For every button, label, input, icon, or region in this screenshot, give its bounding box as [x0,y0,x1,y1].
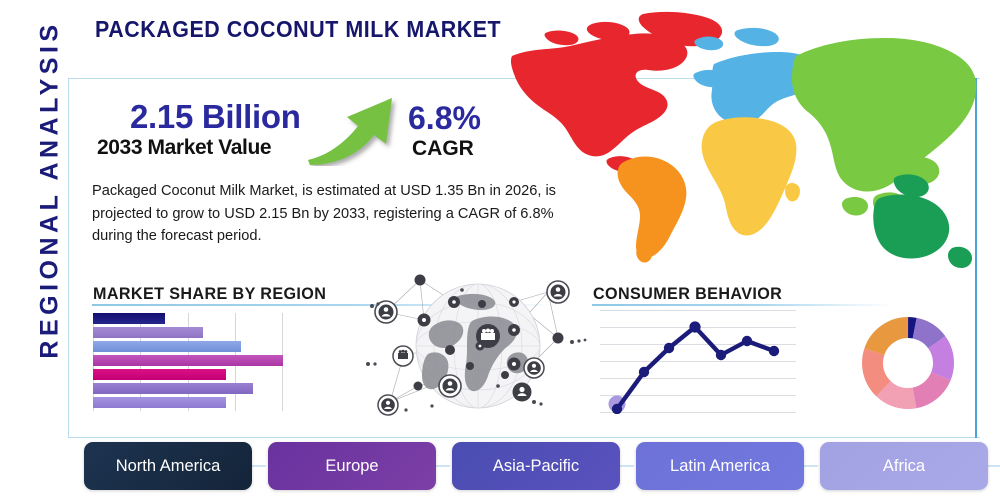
region-button-latin-america[interactable]: Latin America [636,442,804,490]
section-title-market-share: MARKET SHARE BY REGION [93,284,326,304]
bar-row [93,369,226,380]
bar-row [93,313,165,324]
bar-row [93,355,283,366]
region-connector [988,465,1000,467]
bar-row [93,327,203,338]
market-share-bar-chart [93,313,283,411]
region-connector [252,465,266,467]
consumer-behavior-line-chart [600,310,796,414]
region-connector [620,465,634,467]
growth-arrow-up-icon [300,86,410,166]
region-button-north-america[interactable]: North America [84,442,252,490]
bar-row [93,397,226,408]
page-title: PACKAGED COCONUT MILK MARKET [95,16,501,43]
side-label-regional-analysis: REGIONAL ANALYSIS [36,0,65,390]
section-title-consumer-behavior: CONSUMER BEHAVIOR [593,284,782,304]
region-button-asia-pacific[interactable]: Asia-Pacific [452,442,620,490]
region-button-label: Asia-Pacific [493,457,579,476]
market-value-figure: 2.15 Billion [130,98,301,136]
region-button-africa[interactable]: Africa [820,442,988,490]
world-map-icon [500,8,1000,270]
region-button-europe[interactable]: Europe [268,442,436,490]
region-connector [804,465,818,467]
region-button-label: North America [116,457,221,476]
consumer-behavior-underline [592,304,892,306]
cagr-caption: CAGR [412,137,474,161]
consumer-behavior-donut-chart [855,310,961,416]
cagr-figure: 6.8% [408,100,481,137]
bar-row [93,341,241,352]
global-network-globe-icon [362,268,594,426]
infographic-root: REGIONAL ANALYSIS PACKAGED COCONUT MILK … [0,0,1000,500]
region-button-label: Africa [883,457,925,476]
bar-row [93,383,253,394]
region-button-label: Europe [325,457,378,476]
market-value-caption: 2033 Market Value [97,136,271,160]
region-button-label: Latin America [670,457,770,476]
region-connector [436,465,450,467]
